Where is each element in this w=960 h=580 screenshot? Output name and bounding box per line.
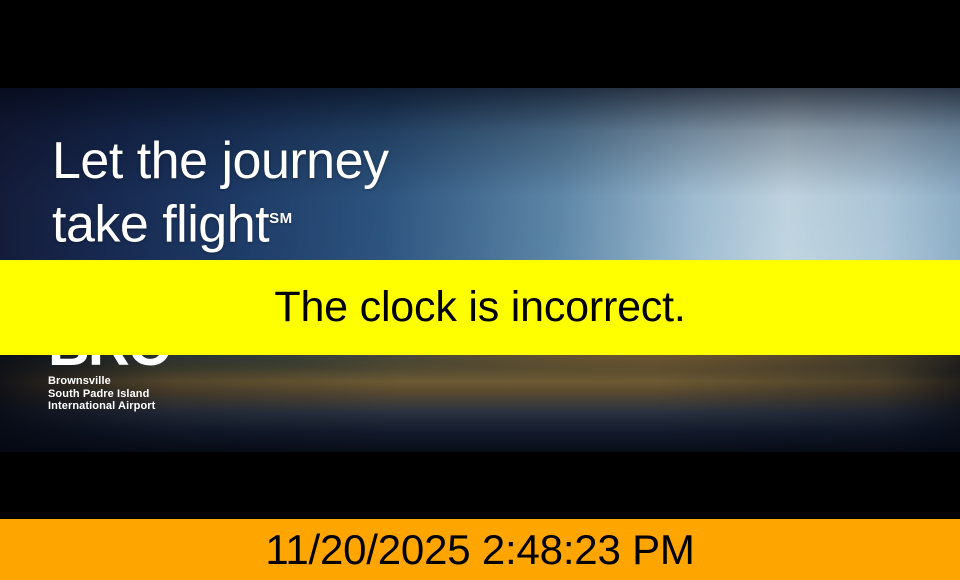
alert-message: The clock is incorrect. [274,283,685,332]
alert-banner: The clock is incorrect. [0,260,960,355]
tagline-line-2-wrap: take flightSM [52,190,389,253]
tagline-line-1: Let the journey [52,132,389,190]
logo-subtitle: Brownsville South Padre Island Internati… [48,375,171,413]
logo-subtitle-line-3: International Airport [48,400,171,413]
logo-subtitle-line-2: South Padre Island [48,388,171,401]
service-mark-superscript: SM [269,210,293,227]
hero-tagline: Let the journey take flightSM [52,132,389,253]
tagline-line-2: take flight [52,195,269,253]
digital-signage-screen: Let the journey take flightSM BRO Browns… [0,0,960,580]
clock-timestamp: 11/20/2025 2:48:23 PM [265,526,694,574]
clock-bar: 11/20/2025 2:48:23 PM [0,519,960,580]
